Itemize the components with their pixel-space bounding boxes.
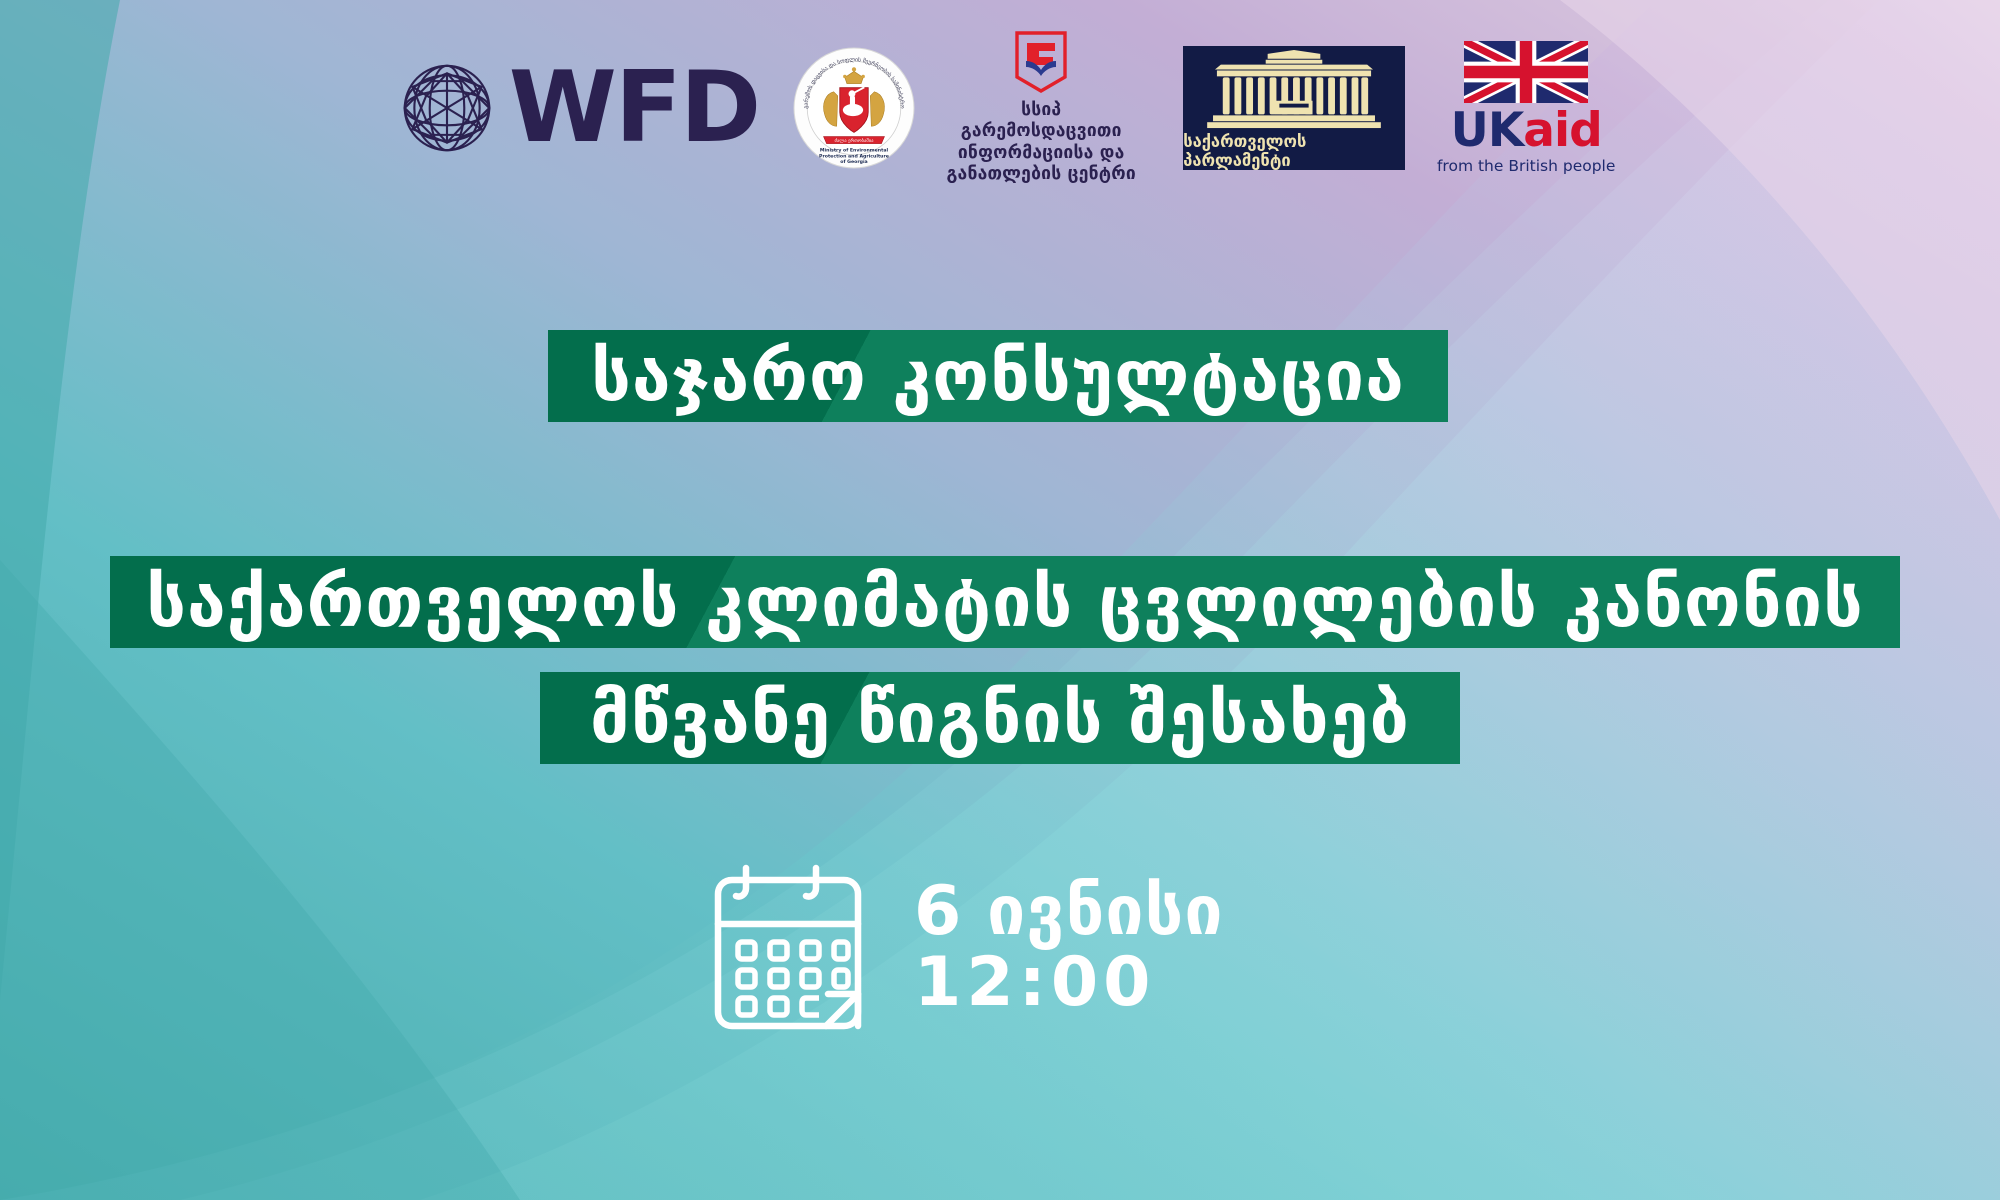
ukaid-wordmark: UKaid xyxy=(1451,107,1602,154)
environmental-information-center-logo: სსიპ გარემოსდაცვითი ინფორმაციისა და განა… xyxy=(941,31,1141,185)
calendar-icon xyxy=(706,862,870,1034)
event-datetime-text: 6 ივნისი 12:00 xyxy=(914,877,1224,1018)
event-subtitle-text-line2: მწვანე წიგნის შესახებ xyxy=(590,683,1410,753)
globe-icon xyxy=(399,60,495,156)
event-date: 6 ივნისი xyxy=(914,877,1224,948)
parliament-building-icon xyxy=(1203,50,1385,130)
svg-text:Protection and Agriculture: Protection and Agriculture xyxy=(819,153,889,159)
event-title-banner: საჯარო კონსულტაცია xyxy=(548,330,1448,422)
info-center-line-3: განათლების ცენტრი xyxy=(941,164,1141,185)
event-subtitle-text-line1: საქართველოს კლიმატის ცვლილების კანონის xyxy=(146,567,1864,637)
event-datetime-block: 6 ივნისი 12:00 xyxy=(706,862,1224,1034)
wfd-logo: WFD xyxy=(399,59,759,157)
union-jack-flag-icon xyxy=(1464,41,1588,103)
ukaid-aid-text: aid xyxy=(1523,103,1601,158)
open-book-icon xyxy=(1013,31,1069,93)
info-center-line-2: ინფორმაციისა და xyxy=(941,143,1141,164)
ukaid-logo: UKaid from the British people xyxy=(1451,41,1601,175)
georgia-coat-of-arms-icon: გარემოს დაცვისა და სოფლის მეურნეობის სამ… xyxy=(793,47,915,169)
wfd-wordmark: WFD xyxy=(509,59,759,157)
svg-text:ძალა ერთობაშია: ძალა ერთობაშია xyxy=(835,137,875,144)
ministry-seal: გარემოს დაცვისა და სოფლის მეურნეობის სამ… xyxy=(793,47,941,169)
ukaid-tagline: from the British people xyxy=(1437,157,1615,175)
svg-text:Ministry of Environmental: Ministry of Environmental xyxy=(820,148,889,154)
event-time: 12:00 xyxy=(914,948,1224,1019)
info-center-caption: სსიპ გარემოსდაცვითი ინფორმაციისა და განა… xyxy=(941,100,1141,185)
ukaid-uk-text: UK xyxy=(1451,103,1524,158)
parliament-label: საქართველოს პარლამენტი xyxy=(1183,132,1405,170)
svg-text:of Georgia: of Georgia xyxy=(840,159,867,165)
event-title-text: საჯარო კონსულტაცია xyxy=(591,341,1405,411)
event-subtitle-banner-line1: საქართველოს კლიმატის ცვლილების კანონის xyxy=(110,556,1900,648)
parliament-of-georgia-logo: საქართველოს პარლამენტი xyxy=(1183,46,1405,170)
partner-logo-strip: WFD გარემოს დაცვისა და სოფლის მეურნეობის… xyxy=(0,28,2000,188)
info-center-line-1: სსიპ გარემოსდაცვითი xyxy=(941,100,1141,143)
event-subtitle-banner-line2: მწვანე წიგნის შესახებ xyxy=(540,672,1460,764)
